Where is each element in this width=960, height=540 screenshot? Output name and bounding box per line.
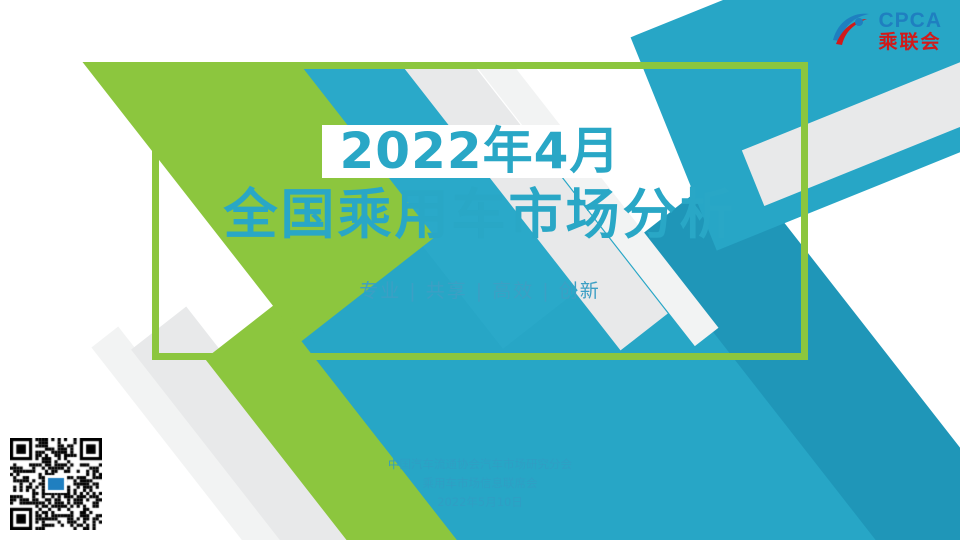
title-block: 2022年4月 全国乘用车市场分析 专业 | 共享 | 高效 | 创新 bbox=[152, 62, 808, 360]
slide-root: CPCA 乘联会 2022年4月 全国乘用车市场分析 专业 | 共享 | 高效 … bbox=[0, 0, 960, 540]
credit-line-organization: 中国汽车流通协会汽车市场研究分会 bbox=[0, 455, 960, 474]
credit-line-association: 乘用车市场信息联席会 bbox=[0, 474, 960, 493]
cpca-logo: CPCA 乘联会 bbox=[829, 8, 942, 54]
cpca-swoosh-icon bbox=[829, 10, 871, 52]
cpca-logo-text: CPCA 乘联会 bbox=[878, 10, 942, 52]
title-main: 全国乘用车市场分析 bbox=[224, 184, 737, 246]
qr-code[interactable] bbox=[8, 436, 104, 532]
credits-block: 中国汽车流通协会汽车市场研究分会 乘用车市场信息联席会 2022年5月10日 bbox=[0, 455, 960, 512]
cpca-abbr: CPCA bbox=[878, 10, 942, 31]
title-subtitle: 专业 | 共享 | 高效 | 创新 bbox=[359, 276, 600, 303]
title-period: 2022年4月 bbox=[322, 125, 639, 178]
credit-line-date: 2022年5月10日 bbox=[0, 493, 960, 512]
cpca-chinese-name: 乘联会 bbox=[878, 33, 942, 52]
